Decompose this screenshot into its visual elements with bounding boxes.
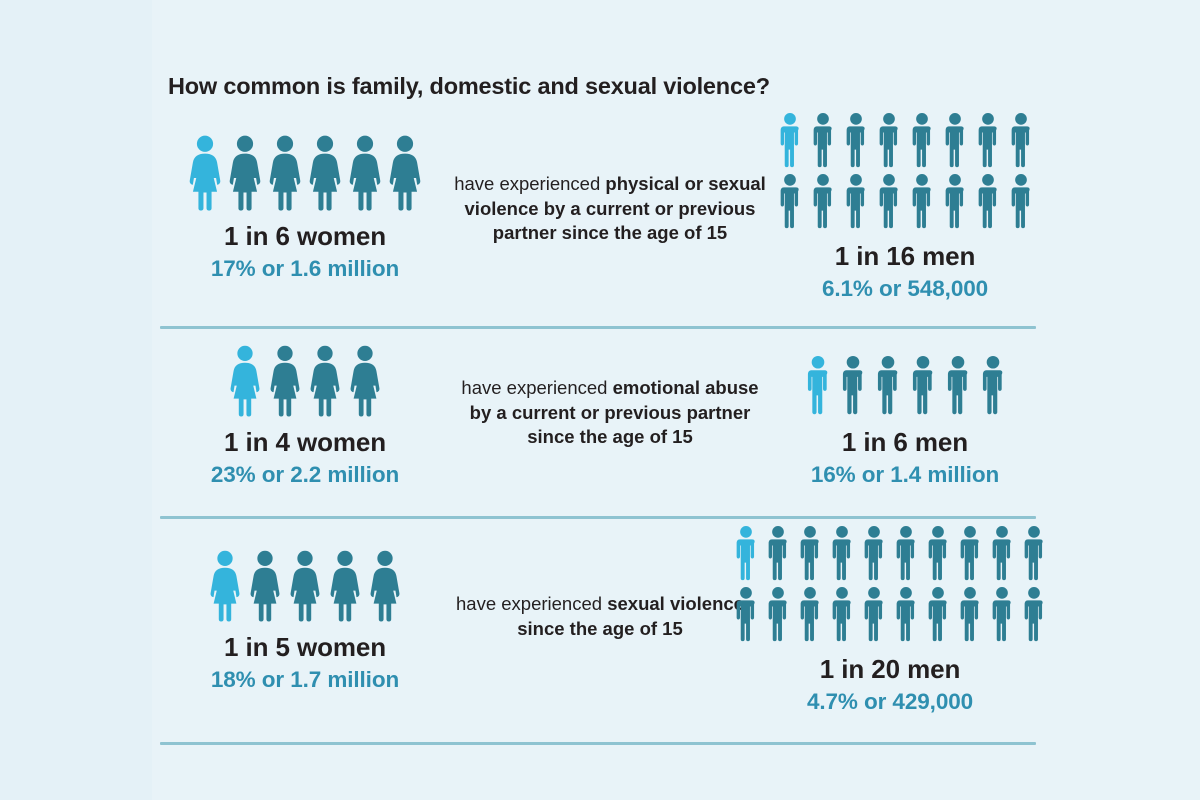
man-icon	[876, 173, 902, 229]
woman-pictogram-group	[187, 135, 423, 211]
row-2-statement: have experienced emotional abuse by a cu…	[450, 376, 770, 450]
divider-3	[160, 742, 1036, 745]
man-icon	[1008, 173, 1034, 229]
row-3-men-group: 1 in 20 men 4.7% or 429,000	[730, 525, 1050, 715]
man-icon	[797, 586, 823, 642]
woman-icon	[228, 345, 262, 417]
man-icon	[777, 112, 803, 168]
row-1-statement-plain: have experienced	[454, 173, 605, 194]
man-icon	[777, 173, 803, 229]
woman-icon	[348, 345, 382, 417]
man-icon	[989, 525, 1015, 581]
man-icon	[797, 525, 823, 581]
woman-icon	[307, 135, 343, 211]
man-icon	[909, 173, 935, 229]
row-3-women-group: 1 in 5 women 18% or 1.7 million	[160, 550, 450, 693]
man-icon	[733, 525, 759, 581]
man-icon	[810, 112, 836, 168]
man-icon	[861, 586, 887, 642]
divider-1	[160, 326, 1036, 329]
man-icon	[909, 112, 935, 168]
woman-icon	[268, 345, 302, 417]
woman-icon	[328, 550, 362, 622]
woman-icon	[368, 550, 402, 622]
row-3-men-stat: 4.7% or 429,000	[730, 689, 1050, 715]
woman-icon	[267, 135, 303, 211]
man-icon	[804, 355, 832, 415]
divider-2	[160, 516, 1036, 519]
man-icon	[893, 525, 919, 581]
row-2-women-headline: 1 in 4 women	[160, 427, 450, 458]
woman-icon	[288, 550, 322, 622]
row-2-men-headline: 1 in 6 men	[760, 427, 1050, 458]
man-icon	[944, 355, 972, 415]
row-2-women-stat: 23% or 2.2 million	[160, 462, 450, 488]
row-2-statement-plain: have experienced	[461, 377, 612, 398]
man-icon	[876, 112, 902, 168]
man-icon	[843, 112, 869, 168]
man-icon	[829, 586, 855, 642]
man-icon	[942, 112, 968, 168]
woman-icon	[187, 135, 223, 211]
page-title: How common is family, domestic and sexua…	[168, 73, 770, 100]
man-icon	[829, 525, 855, 581]
man-pictogram-group	[804, 355, 1007, 415]
man-pictogram-group	[777, 112, 1034, 229]
man-icon	[925, 586, 951, 642]
row-3-women-stat: 18% or 1.7 million	[160, 667, 450, 693]
man-icon	[893, 586, 919, 642]
row-1-women-group: 1 in 6 women 17% or 1.6 million	[160, 135, 450, 282]
row-3-men-headline: 1 in 20 men	[730, 654, 1050, 685]
man-icon	[765, 525, 791, 581]
row-3-statement: have experienced sexual violence since t…	[450, 592, 750, 641]
row-1-men-headline: 1 in 16 men	[760, 241, 1050, 272]
woman-pictogram-group	[208, 550, 402, 622]
man-icon	[909, 355, 937, 415]
row-1-statement: have experienced physical or sexual viol…	[450, 172, 770, 246]
woman-icon	[347, 135, 383, 211]
row-3-women-headline: 1 in 5 women	[160, 632, 450, 663]
woman-icon	[208, 550, 242, 622]
man-icon	[810, 173, 836, 229]
row-3-statement-plain: have experienced	[456, 593, 607, 614]
woman-icon	[308, 345, 342, 417]
man-icon	[843, 173, 869, 229]
woman-pictogram-group	[228, 345, 382, 417]
man-icon	[975, 173, 1001, 229]
man-icon	[733, 586, 759, 642]
row-1-men-group: 1 in 16 men 6.1% or 548,000	[760, 112, 1050, 302]
man-icon	[989, 586, 1015, 642]
row-1-women-stat: 17% or 1.6 million	[160, 256, 450, 282]
woman-icon	[248, 550, 282, 622]
woman-icon	[227, 135, 263, 211]
man-icon	[942, 173, 968, 229]
row-1-men-stat: 6.1% or 548,000	[760, 276, 1050, 302]
man-icon	[874, 355, 902, 415]
man-icon	[1021, 586, 1047, 642]
row-2-women-group: 1 in 4 women 23% or 2.2 million	[160, 345, 450, 488]
man-icon	[975, 112, 1001, 168]
man-icon	[861, 525, 887, 581]
row-1-women-headline: 1 in 6 women	[160, 221, 450, 252]
man-icon	[1021, 525, 1047, 581]
man-icon	[957, 586, 983, 642]
man-icon	[957, 525, 983, 581]
row-2-men-stat: 16% or 1.4 million	[760, 462, 1050, 488]
man-icon	[979, 355, 1007, 415]
man-pictogram-group	[733, 525, 1047, 642]
man-icon	[765, 586, 791, 642]
row-2-men-group: 1 in 6 men 16% or 1.4 million	[760, 355, 1050, 488]
man-icon	[925, 525, 951, 581]
woman-icon	[387, 135, 423, 211]
man-icon	[1008, 112, 1034, 168]
man-icon	[839, 355, 867, 415]
